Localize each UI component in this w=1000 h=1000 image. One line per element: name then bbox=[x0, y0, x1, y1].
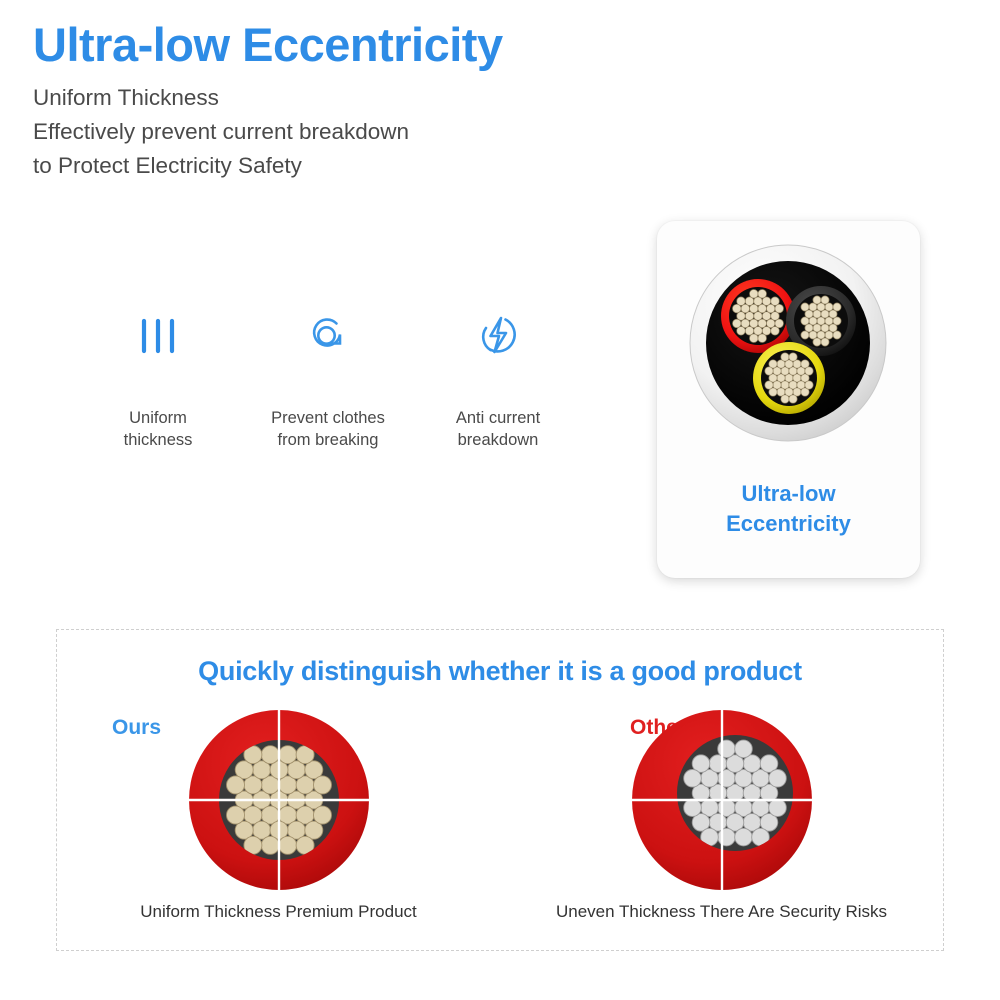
lightning-bolt-icon bbox=[472, 305, 524, 365]
others-caption: Uneven Thickness There Are Security Risk… bbox=[500, 902, 943, 922]
spiral-ring-icon bbox=[302, 305, 354, 365]
feature-list: Uniform thickness Prevent clothes from b… bbox=[78, 305, 578, 451]
feature-label-line-1: Anti current bbox=[456, 407, 540, 429]
feature-label-line-2: breakdown bbox=[456, 429, 540, 451]
comparison-column-ours: Ours bbox=[57, 702, 500, 942]
ours-crosshair bbox=[189, 705, 369, 895]
feature-label: Anti current breakdown bbox=[456, 407, 540, 451]
header-subtitle: Uniform Thickness Effectively prevent cu… bbox=[33, 81, 733, 183]
cable-caption-line-2: Eccentricity bbox=[657, 509, 920, 539]
feature-item-uniform-thickness: Uniform thickness bbox=[78, 305, 238, 451]
cable-feature-card: Ultra-low Eccentricity bbox=[657, 221, 920, 578]
feature-label-line-1: Prevent clothes bbox=[271, 407, 385, 429]
feature-label-line-1: Uniform bbox=[124, 407, 193, 429]
cable-caption-line-1: Ultra-low bbox=[657, 479, 920, 509]
ours-cross-section-image bbox=[186, 707, 372, 893]
comparison-column-others: Others bbox=[500, 702, 943, 942]
feature-label-line-2: thickness bbox=[124, 429, 193, 451]
comparison-panel: Quickly distinguish whether it is a good… bbox=[56, 629, 944, 951]
page-title: Ultra-low Eccentricity bbox=[33, 20, 733, 69]
ours-label: Ours bbox=[112, 716, 161, 740]
subtitle-line-3: to Protect Electricity Safety bbox=[33, 149, 733, 183]
feature-label: Uniform thickness bbox=[124, 407, 193, 451]
feature-item-anti-current-breakdown: Anti current breakdown bbox=[418, 305, 578, 451]
ours-caption: Uniform Thickness Premium Product bbox=[57, 902, 500, 922]
header-block: Ultra-low Eccentricity Uniform Thickness… bbox=[33, 20, 733, 183]
others-crosshair bbox=[632, 705, 812, 895]
feature-label-line-2: from breaking bbox=[271, 429, 385, 451]
others-cross-section-image bbox=[629, 707, 815, 893]
cable-cross-section-image bbox=[688, 243, 888, 443]
comparison-columns: Ours bbox=[57, 702, 943, 942]
cable-card-caption: Ultra-low Eccentricity bbox=[657, 479, 920, 539]
subtitle-line-1: Uniform Thickness bbox=[33, 81, 733, 115]
feature-item-prevent-clothes-breaking: Prevent clothes from breaking bbox=[248, 305, 408, 451]
subtitle-line-2: Effectively prevent current breakdown bbox=[33, 115, 733, 149]
bars-thickness-icon bbox=[134, 305, 182, 365]
feature-label: Prevent clothes from breaking bbox=[271, 407, 385, 451]
comparison-title: Quickly distinguish whether it is a good… bbox=[57, 656, 943, 687]
